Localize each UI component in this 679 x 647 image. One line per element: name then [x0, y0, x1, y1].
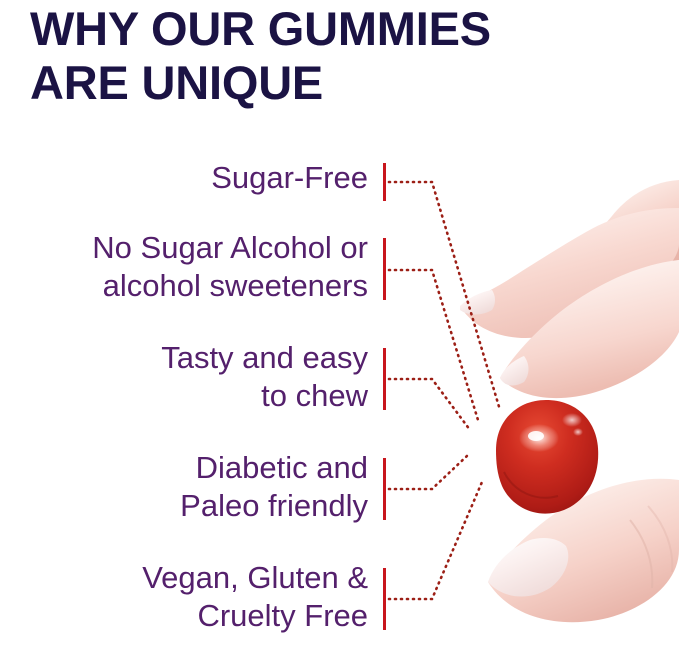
product-benefits-graphic: WHY OUR GUMMIES ARE UNIQUE: [0, 0, 679, 647]
benefit-item-tasty-easy-chew: Tasty and easy to chew: [0, 339, 370, 415]
page-title: WHY OUR GUMMIES ARE UNIQUE: [30, 2, 650, 110]
benefit-tick-3: [383, 458, 386, 520]
benefit-tick-1: [383, 238, 386, 300]
benefit-item-sugar-free: Sugar-Free: [0, 159, 370, 197]
benefit-item-diabetic-paleo: Diabetic and Paleo friendly: [0, 449, 370, 525]
hand-holding-gummy-photo: [400, 120, 679, 647]
benefit-tick-0: [383, 163, 386, 201]
benefit-tick-4: [383, 568, 386, 630]
benefit-tick-2: [383, 348, 386, 410]
benefit-item-no-sugar-alcohol: No Sugar Alcohol or alcohol sweeteners: [0, 229, 370, 305]
benefit-item-vegan-gluten-cruelty-free: Vegan, Gluten & Cruelty Free: [0, 559, 370, 635]
